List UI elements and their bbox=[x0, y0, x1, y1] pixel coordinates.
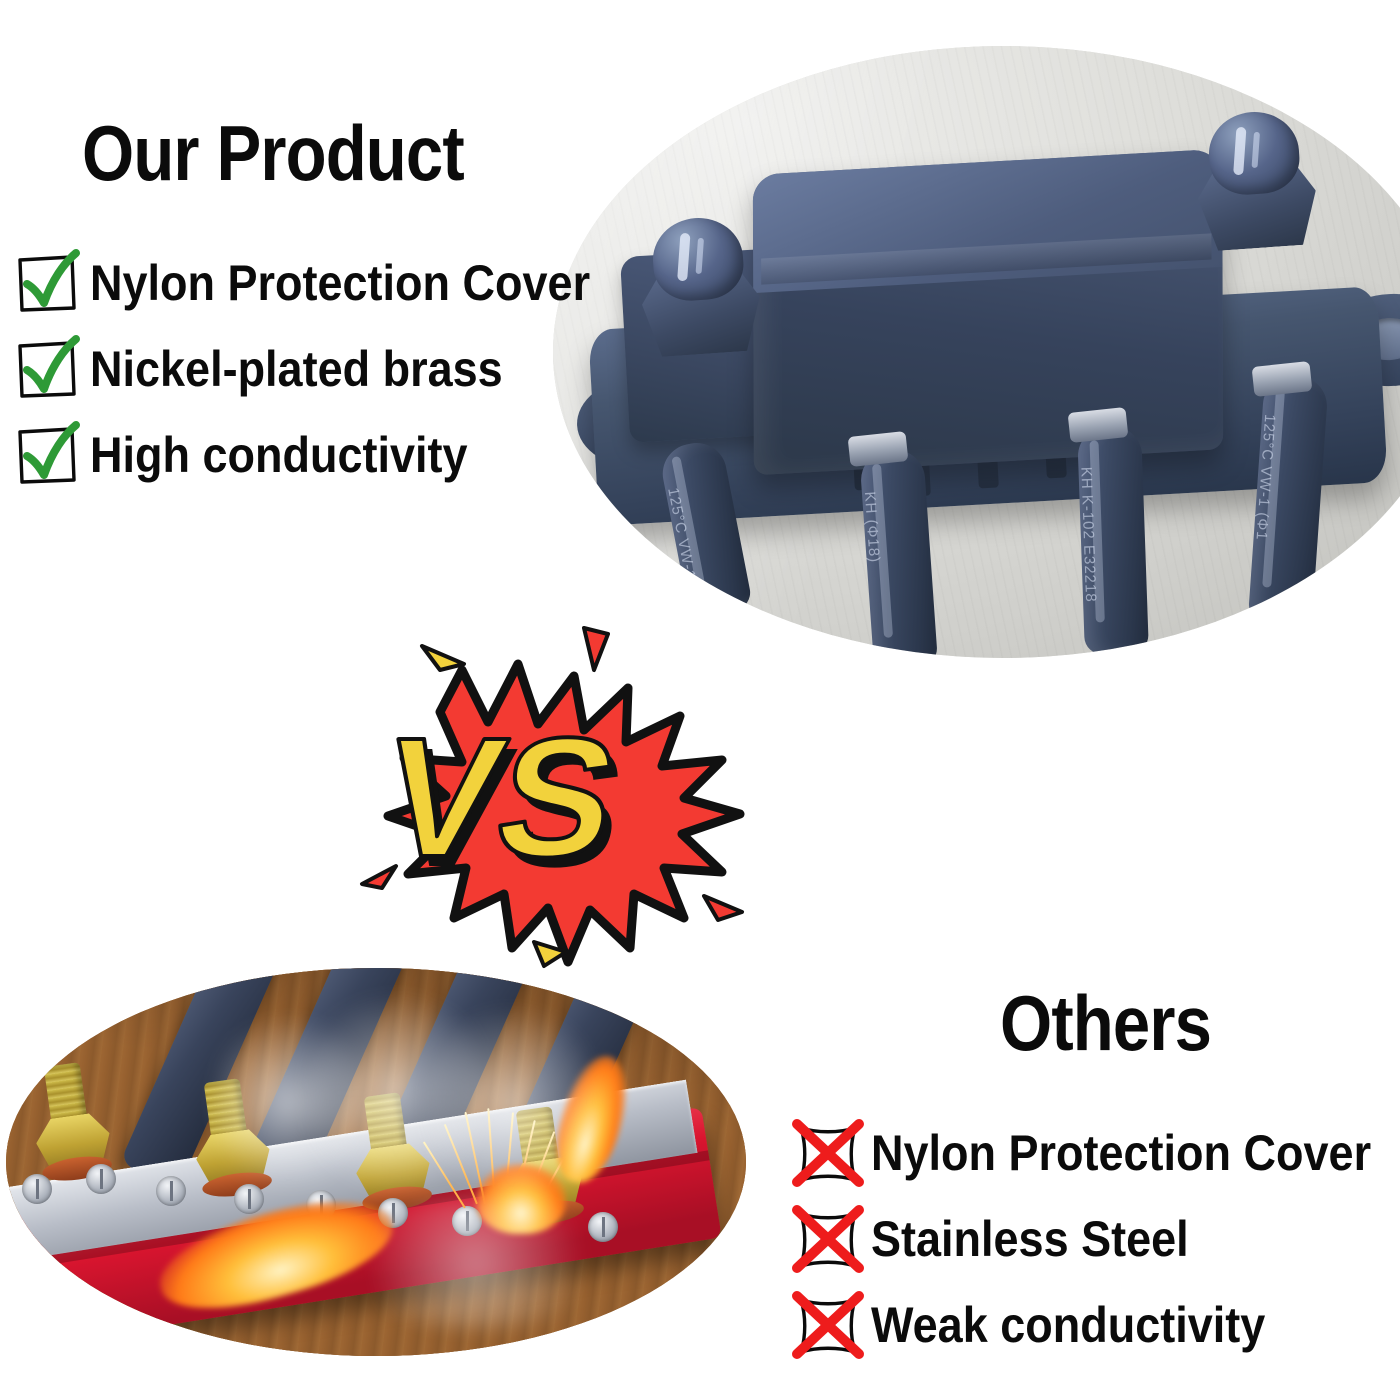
feature-label: Nylon Protection Cover bbox=[871, 1124, 1371, 1182]
shard-yellow-icon bbox=[420, 640, 468, 679]
vs-text: VS bbox=[370, 703, 630, 893]
feature-label: Nickel-plated brass bbox=[90, 340, 503, 398]
feature-row: Nylon Protection Cover bbox=[14, 240, 646, 326]
red-cross-icon bbox=[795, 1292, 861, 1358]
feature-row: High conductivity bbox=[14, 412, 646, 498]
shard-red-left-icon bbox=[356, 862, 398, 897]
cable-lug bbox=[1252, 361, 1313, 397]
feature-row: Nylon Protection Cover bbox=[795, 1110, 1400, 1196]
feature-row: Nickel-plated brass bbox=[14, 326, 646, 412]
busbar-nylon-cover bbox=[753, 149, 1223, 476]
feature-row: Weak conductivity bbox=[795, 1282, 1400, 1368]
feature-label: Nylon Protection Cover bbox=[90, 254, 590, 312]
green-check-icon bbox=[14, 250, 80, 316]
comparison-infographic: 125°C VW-1 KH (Φ18) KH K-102 E32218 125°… bbox=[0, 0, 1400, 1400]
others-feature-list: Nylon Protection Cover Stainless Steel bbox=[795, 1110, 1400, 1368]
green-check-icon bbox=[14, 336, 80, 402]
red-cross-icon bbox=[795, 1120, 861, 1186]
shard-red-right-icon bbox=[702, 892, 746, 931]
green-check-icon bbox=[14, 422, 80, 488]
our-product-title: Our Product bbox=[82, 108, 464, 199]
others-title: Others bbox=[1000, 978, 1211, 1069]
feature-label: High conductivity bbox=[90, 426, 468, 484]
others-photo bbox=[6, 968, 746, 1356]
small-screw bbox=[156, 1176, 186, 1206]
busbar-bolt-cap-left bbox=[636, 214, 763, 362]
shard-red-top-icon bbox=[578, 626, 614, 679]
cable-lug bbox=[848, 431, 909, 467]
red-cross-icon bbox=[795, 1206, 861, 1272]
smoke-plume bbox=[336, 1198, 616, 1328]
our-product-photo: 125°C VW-1 KH (Φ18) KH K-102 E32218 125°… bbox=[553, 46, 1400, 658]
feature-label: Weak conductivity bbox=[871, 1296, 1265, 1354]
small-screw bbox=[86, 1164, 116, 1194]
small-screw bbox=[22, 1174, 52, 1204]
busbar-bolt-cap-right bbox=[1192, 108, 1319, 256]
feature-label: Stainless Steel bbox=[871, 1210, 1189, 1268]
our-product-feature-list: Nylon Protection Cover Nickel-plated bra… bbox=[14, 240, 646, 498]
smoke-plume bbox=[426, 992, 596, 1212]
feature-row: Stainless Steel bbox=[795, 1196, 1400, 1282]
cable-lug bbox=[1068, 407, 1129, 443]
